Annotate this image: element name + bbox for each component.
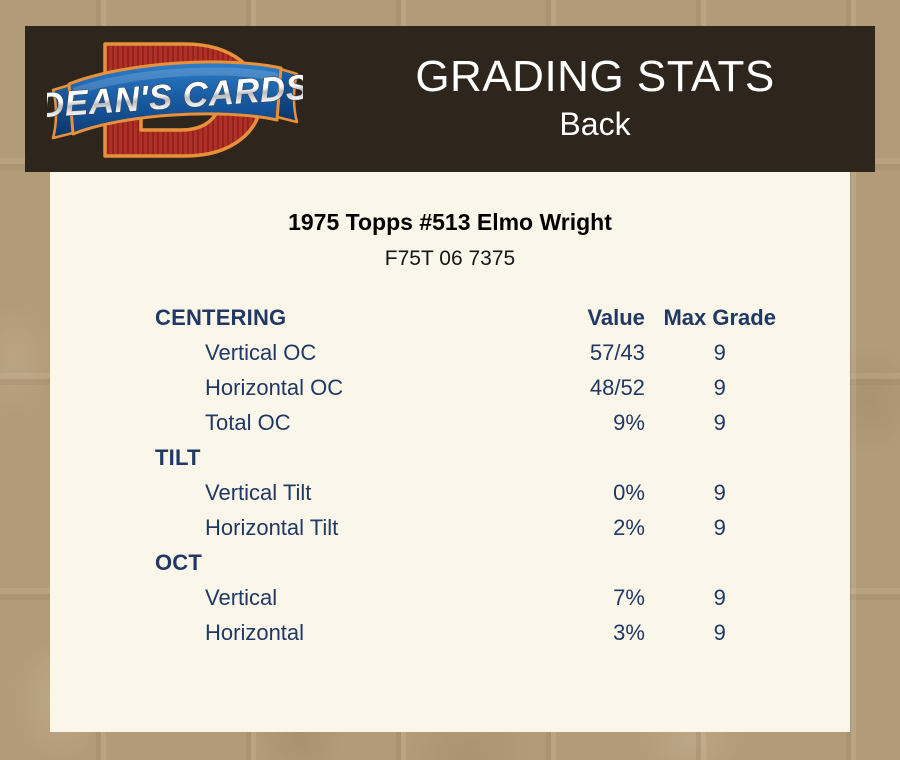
row-spacer [795, 545, 850, 580]
logo-banner: DEAN'S CARDS [47, 62, 303, 138]
table-section-row: OCT [50, 545, 850, 580]
stat-label: Vertical OC [50, 335, 493, 370]
page-title: GRADING STATS [415, 54, 774, 100]
row-spacer [795, 475, 850, 510]
stat-value: 0% [493, 475, 645, 510]
row-spacer [795, 615, 850, 650]
column-header-max-grade: Max Grade [645, 300, 795, 335]
stat-max-grade: 9 [645, 615, 795, 650]
stat-max-grade: 9 [645, 370, 795, 405]
stat-value: 3% [493, 615, 645, 650]
table-row: Vertical OC 57/43 9 [50, 335, 850, 370]
deans-cards-logo[interactable]: DEAN'S CARDS [47, 28, 303, 172]
row-spacer [795, 580, 850, 615]
card-identifier: F75T 06 7375 [50, 246, 850, 271]
stat-max-grade: 9 [645, 405, 795, 440]
stat-label: Horizontal Tilt [50, 510, 493, 545]
stat-max-grade: 9 [645, 510, 795, 545]
stat-value: 9% [493, 405, 645, 440]
section-value-spacer [493, 545, 645, 580]
stat-value: 48/52 [493, 370, 645, 405]
header-title-block: GRADING STATS Back [315, 26, 875, 172]
row-spacer [795, 405, 850, 440]
stat-label: Vertical [50, 580, 493, 615]
stat-max-grade: 9 [645, 335, 795, 370]
table-row: Vertical Tilt 0% 9 [50, 475, 850, 510]
grading-stats-table: CENTERING Value Max Grade Vertical OC 57… [50, 300, 850, 650]
page-subtitle: Back [559, 104, 630, 144]
header-bar: DEAN'S CARDS GRADING STATS Back [25, 26, 875, 172]
column-header-value: Value [493, 300, 645, 335]
row-spacer [795, 440, 850, 475]
section-value-spacer [493, 440, 645, 475]
table-row: Horizontal 3% 9 [50, 615, 850, 650]
section-grade-spacer [645, 440, 795, 475]
section-heading-centering: CENTERING [50, 300, 493, 335]
section-heading-tilt: TILT [50, 440, 493, 475]
stat-label: Horizontal [50, 615, 493, 650]
content-panel: 1975 Topps #513 Elmo Wright F75T 06 7375… [50, 172, 850, 732]
grading-stats-body: CENTERING Value Max Grade Vertical OC 57… [50, 300, 850, 650]
section-heading-oct: OCT [50, 545, 493, 580]
row-spacer [795, 370, 850, 405]
stat-label: Horizontal OC [50, 370, 493, 405]
stat-max-grade: 9 [645, 475, 795, 510]
stat-label: Vertical Tilt [50, 475, 493, 510]
card-title: 1975 Topps #513 Elmo Wright [50, 209, 850, 237]
row-spacer [795, 510, 850, 545]
table-section-row: TILT [50, 440, 850, 475]
table-row: Total OC 9% 9 [50, 405, 850, 440]
table-row: Vertical 7% 9 [50, 580, 850, 615]
row-spacer [795, 335, 850, 370]
table-right-spacer [795, 300, 850, 335]
stat-max-grade: 9 [645, 580, 795, 615]
table-row: Horizontal OC 48/52 9 [50, 370, 850, 405]
table-row: Horizontal Tilt 2% 9 [50, 510, 850, 545]
stat-value: 57/43 [493, 335, 645, 370]
section-grade-spacer [645, 545, 795, 580]
stat-value: 2% [493, 510, 645, 545]
stat-label: Total OC [50, 405, 493, 440]
stat-value: 7% [493, 580, 645, 615]
table-header-row: CENTERING Value Max Grade [50, 300, 850, 335]
